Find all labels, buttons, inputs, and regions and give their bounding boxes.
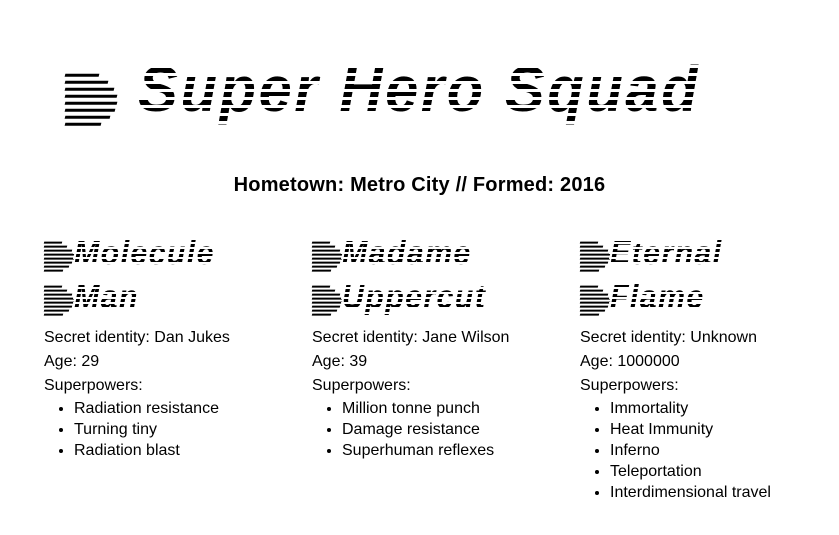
hero-name-line: Molecule bbox=[74, 232, 300, 274]
speed-lines-icon bbox=[312, 286, 342, 309]
hero-name-text: Molecule bbox=[74, 232, 215, 274]
hero-superpower-item: Million tonne punch bbox=[342, 398, 568, 419]
hero-list: MoleculeManSecret identity: Dan JukesAge… bbox=[44, 232, 839, 503]
speed-lines-icon bbox=[580, 242, 610, 265]
hero-name-line: Uppercut bbox=[342, 276, 568, 318]
hero-superpower-item: Turning tiny bbox=[74, 419, 300, 440]
hero-superpower-item: Superhuman reflexes bbox=[342, 440, 568, 461]
hero-name: MoleculeMan bbox=[44, 232, 300, 318]
hero-name: MadameUppercut bbox=[312, 232, 568, 318]
hero-secret-identity: Secret identity: Jane Wilson bbox=[312, 326, 568, 350]
hero-card: MoleculeManSecret identity: Dan JukesAge… bbox=[44, 232, 312, 461]
hero-superpower-item: Radiation blast bbox=[74, 440, 300, 461]
hero-secret-identity: Secret identity: Unknown bbox=[580, 326, 836, 350]
hero-age: Age: 1000000 bbox=[580, 350, 836, 374]
hero-card: MadameUppercutSecret identity: Jane Wils… bbox=[312, 232, 580, 461]
hero-superpowers-list: Radiation resistanceTurning tinyRadiatio… bbox=[44, 398, 300, 461]
hero-superpowers-label: Superpowers: bbox=[44, 374, 300, 398]
hero-superpower-item: Inferno bbox=[610, 440, 836, 461]
hero-superpowers-list: ImmortalityHeat ImmunityInfernoTeleporta… bbox=[580, 398, 836, 503]
hero-superpower-item: Heat Immunity bbox=[610, 419, 836, 440]
hero-name-text: Flame bbox=[610, 276, 705, 318]
hero-name-text: Eternal bbox=[610, 232, 722, 274]
hero-superpower-item: Immortality bbox=[610, 398, 836, 419]
hero-superpower-item: Interdimensional travel bbox=[610, 482, 836, 503]
hero-card: EternalFlameSecret identity: UnknownAge:… bbox=[580, 232, 839, 503]
hero-superpower-item: Damage resistance bbox=[342, 419, 568, 440]
speed-lines-icon bbox=[44, 286, 74, 309]
speed-lines-icon bbox=[65, 74, 117, 107]
hero-name-text: Uppercut bbox=[342, 276, 486, 318]
hero-superpowers-list: Million tonne punchDamage resistanceSupe… bbox=[312, 398, 568, 461]
page-title: Super Hero Squad bbox=[0, 57, 839, 122]
hero-name-text: Man bbox=[74, 276, 139, 318]
hero-name-text: Madame bbox=[342, 232, 472, 274]
hero-age: Age: 39 bbox=[312, 350, 568, 374]
hero-superpowers-label: Superpowers: bbox=[580, 374, 836, 398]
hero-name-line: Madame bbox=[342, 232, 568, 274]
subtitle: Hometown: Metro City // Formed: 2016 bbox=[0, 174, 839, 197]
speed-lines-icon bbox=[312, 242, 342, 265]
hero-name-line: Flame bbox=[610, 276, 836, 318]
hero-superpower-item: Radiation resistance bbox=[74, 398, 300, 419]
speed-lines-icon bbox=[580, 286, 610, 309]
hero-name-line: Man bbox=[74, 276, 300, 318]
speed-lines-icon bbox=[44, 242, 74, 265]
hero-superpower-item: Teleportation bbox=[610, 461, 836, 482]
hero-superpowers-label: Superpowers: bbox=[312, 374, 568, 398]
hero-secret-identity: Secret identity: Dan Jukes bbox=[44, 326, 300, 350]
hero-name: EternalFlame bbox=[580, 232, 836, 318]
title-text: Super Hero Squad bbox=[138, 57, 700, 122]
title-speedline-text: Super Hero Squad bbox=[117, 57, 721, 122]
hero-age: Age: 29 bbox=[44, 350, 300, 374]
hero-name-line: Eternal bbox=[610, 232, 836, 274]
